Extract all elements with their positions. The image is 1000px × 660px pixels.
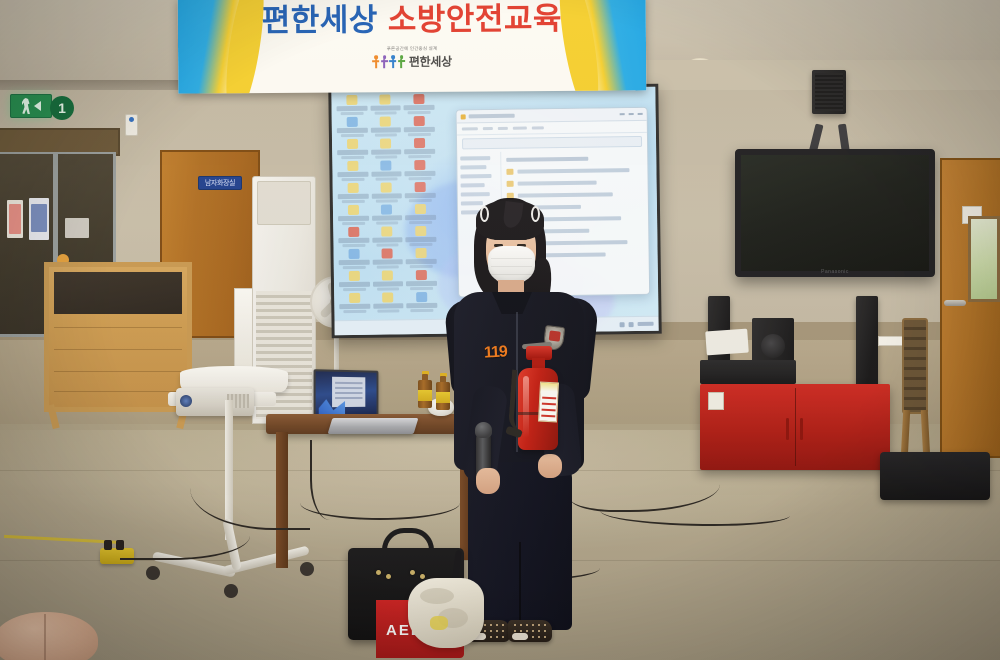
doc-line (335, 397, 362, 399)
logo-figure-orange (372, 55, 379, 68)
banner-title-blue: 편한세상 (262, 2, 378, 38)
laptop-document-view (332, 377, 365, 407)
desktop-icon[interactable] (336, 117, 369, 137)
logo-figure-green (398, 55, 405, 68)
desktop-icon[interactable] (337, 205, 370, 225)
nav-item[interactable] (460, 165, 486, 169)
desktop-icon[interactable] (405, 270, 438, 290)
partition-plank-line (54, 327, 182, 328)
wooden-chair (898, 318, 934, 458)
maximize-icon[interactable] (629, 113, 634, 115)
banner-title-red: 소방안전교육 (388, 1, 562, 37)
laptop-keyboard-base[interactable] (328, 418, 419, 434)
logo-figure-blue (389, 55, 396, 68)
microphone-head-icon (475, 422, 492, 438)
door-notice-poster (9, 204, 21, 234)
tag-line (542, 397, 556, 399)
av-receiver (700, 360, 796, 384)
right-hand (538, 454, 562, 478)
folder-icon (461, 114, 466, 119)
shoe-right (508, 620, 552, 642)
drink-bottle (418, 374, 432, 408)
desktop-icon[interactable] (371, 270, 404, 290)
file-name (517, 168, 629, 173)
plug (104, 540, 112, 550)
door-notice-poster (65, 218, 89, 238)
file-row[interactable] (507, 179, 643, 187)
face-mask (488, 246, 535, 284)
toolbar-view-icon[interactable] (532, 126, 544, 130)
cloth-fold (420, 588, 454, 604)
nav-item[interactable] (461, 183, 485, 187)
network-icon[interactable] (620, 322, 625, 327)
cabinet-handle[interactable] (800, 418, 803, 440)
running-person-icon (22, 98, 32, 114)
intercom-led-icon (129, 117, 134, 122)
desktop-icon[interactable] (338, 249, 371, 269)
wall-mounted-tv: Panasonic (735, 149, 935, 277)
cabinet-door-seam (795, 388, 796, 466)
minimize-icon[interactable] (620, 113, 625, 115)
toolbar-cut-icon[interactable] (483, 127, 493, 131)
desktop-icon[interactable] (337, 227, 370, 247)
banner-title: 편한세상소방안전교육 (178, 2, 646, 36)
cart-caster (300, 562, 314, 576)
tag-line (541, 409, 555, 411)
partition-plank-line (54, 391, 182, 392)
desktop-icon[interactable] (404, 182, 437, 202)
ac-display-panel (257, 181, 311, 225)
tv-screen (741, 155, 929, 271)
toolbar-copy-icon[interactable] (498, 127, 508, 131)
desktop-icon[interactable] (371, 248, 404, 268)
desktop-icon[interactable] (403, 94, 436, 114)
file-name (518, 181, 597, 186)
video-projector (176, 388, 254, 416)
tag-line (541, 415, 555, 417)
mask-fold (491, 274, 532, 275)
left-hand (476, 468, 500, 494)
desktop-icon[interactable] (370, 160, 403, 180)
tag-line (541, 403, 555, 405)
desktop-icon[interactable] (370, 182, 403, 202)
speaker-grill (815, 73, 843, 111)
volume-icon[interactable] (629, 322, 634, 327)
photo-scene: 1 남자화장실 (0, 0, 1000, 660)
ceiling-speaker (812, 70, 846, 114)
manikin-seam (44, 614, 46, 660)
desktop-icon[interactable] (405, 226, 438, 246)
partition-plank-line (54, 371, 182, 372)
desktop-icon[interactable] (404, 204, 437, 224)
logo-brand-text: 편한세상 (409, 53, 452, 70)
desktop-icon-grid[interactable] (335, 94, 438, 295)
desktop-icon[interactable] (338, 271, 371, 291)
window-controls[interactable] (620, 113, 643, 115)
white-cloth-bag (408, 578, 484, 648)
cart-caster (224, 584, 238, 598)
wall-intercom (125, 114, 138, 136)
logo-row: 편한세상 (372, 53, 452, 71)
file-list-header (506, 157, 588, 162)
aed-bag-stud (386, 574, 391, 579)
desktop-icon[interactable] (405, 248, 438, 268)
exit-arrow-icon (34, 101, 41, 111)
desktop-icon[interactable] (369, 116, 402, 136)
mask-fold (491, 266, 532, 267)
power-cable (310, 440, 350, 520)
cabinet-label (708, 392, 724, 410)
shoe-toe-opening (512, 633, 528, 640)
restroom-door-plate: 남자화장실 (198, 176, 242, 190)
subwoofer-cone (761, 334, 785, 358)
desktop-icon[interactable] (338, 293, 371, 313)
file-row[interactable] (506, 167, 642, 175)
partition-plank-line (54, 349, 182, 350)
uniform-119-badge: 119 (484, 343, 508, 362)
power-strip-shelf (705, 329, 749, 356)
desktop-icon[interactable] (336, 139, 369, 159)
doc-line (335, 392, 362, 394)
extinguisher-inspection-tag (538, 382, 559, 423)
mask-ear-strap (531, 206, 540, 222)
equipment-case (880, 452, 990, 500)
patch-emblem-icon (549, 330, 561, 341)
logo-figure-purple (381, 55, 388, 68)
aed-bag-stud (410, 570, 415, 575)
desktop-icon[interactable] (371, 226, 404, 246)
desktop-icon[interactable] (335, 95, 368, 115)
av-cabinet (700, 384, 890, 470)
fire-extinguisher (512, 346, 564, 450)
chair-leg (901, 410, 911, 458)
wooden-partition (44, 262, 192, 412)
desktop-icon[interactable] (337, 183, 370, 203)
side-door[interactable] (940, 158, 1000, 458)
chair-backrest (902, 318, 928, 414)
bottle-label (418, 390, 432, 401)
toolbar-sort-icon[interactable] (513, 126, 527, 130)
desktop-icon[interactable] (404, 160, 437, 180)
projector-lens-icon (180, 395, 192, 407)
tower-speaker (856, 296, 878, 388)
door-notice-poster (31, 204, 47, 232)
cart-caster (146, 566, 160, 580)
emergency-exit-sign (10, 94, 52, 118)
nav-item[interactable] (460, 156, 490, 160)
chair-leg (921, 410, 931, 458)
explorer-title-text (469, 114, 515, 119)
close-icon[interactable] (638, 113, 643, 115)
desktop-icon[interactable] (369, 94, 402, 114)
nav-item[interactable] (460, 174, 491, 178)
trouser-seam (519, 542, 521, 630)
logo-figures-icon (372, 55, 405, 68)
desktop-icon[interactable] (336, 161, 369, 181)
desktop-icon[interactable] (403, 116, 436, 136)
cabinet-handle[interactable] (786, 418, 789, 440)
aed-bag-stud (420, 574, 425, 579)
doc-line (335, 382, 362, 384)
desktop-icon[interactable] (403, 138, 436, 158)
system-tray[interactable] (620, 321, 654, 326)
tv-brand-logo: Panasonic (821, 269, 849, 275)
explorer-address-bar[interactable] (462, 136, 642, 150)
desktop-icon[interactable] (370, 138, 403, 158)
event-banner: 편한세상소방안전교육 푸른공간에 인간중심 설계 편한세상 (178, 0, 647, 94)
desktop-icon[interactable] (405, 292, 438, 312)
mask-ear-strap (480, 206, 489, 222)
taskbar-clock[interactable] (638, 322, 654, 326)
door-lever-handle[interactable] (944, 300, 966, 306)
toolbar-new-icon[interactable] (462, 127, 478, 131)
partition-glass-panel (54, 272, 182, 314)
doc-line (335, 387, 362, 389)
aed-bag-stud (376, 570, 381, 575)
explorer-toolbar[interactable] (457, 121, 647, 136)
wall-picture-frame (968, 216, 1000, 302)
desktop-icon[interactable] (372, 292, 405, 312)
desktop-icon[interactable] (371, 204, 404, 224)
banner-logo: 푸른공간에 인간중심 설계 편한세상 (178, 44, 646, 74)
cloth-bag-contents (430, 616, 448, 630)
file-icon (507, 181, 514, 187)
zone-number-sign: 1 (50, 96, 74, 120)
mask-fold (491, 258, 532, 259)
file-icon (506, 169, 513, 175)
